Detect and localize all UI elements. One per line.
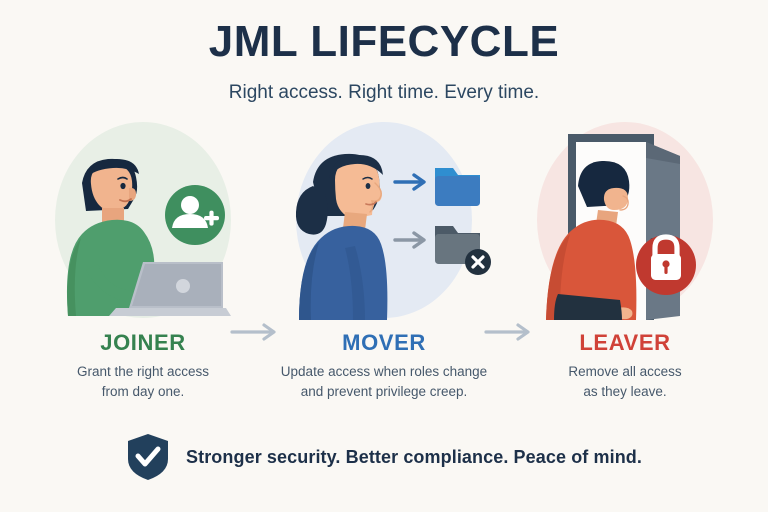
shield-check-icon (126, 433, 170, 481)
lifecycle-stage-row (0, 120, 768, 330)
page-title: JML LIFECYCLE (0, 20, 768, 64)
infographic-canvas: JML LIFECYCLE Right access. Right time. … (0, 0, 768, 512)
caption-desc-leaver-line1: Remove all access (568, 364, 681, 379)
stage-panel-leaver (510, 120, 740, 320)
page-subtitle: Right access. Right time. Every time. (0, 82, 768, 104)
caption-title-leaver: LEAVER (500, 332, 750, 354)
badge-add-user (28, 120, 258, 320)
caption-desc-joiner: Grant the right access from day one. (18, 362, 268, 401)
caption-leaver: LEAVER Remove all access as they leave. (500, 332, 750, 401)
badge-folder-permissions (269, 120, 499, 320)
badge-lock (510, 120, 740, 320)
caption-joiner: JOINER Grant the right access from day o… (18, 332, 268, 401)
caption-desc-mover-line1: Update access when roles change (281, 364, 487, 379)
caption-title-mover: MOVER (259, 332, 509, 354)
caption-desc-mover: Update access when roles change and prev… (259, 362, 509, 401)
stage-panel-joiner (28, 120, 258, 320)
caption-mover: MOVER Update access when roles change an… (259, 332, 509, 401)
footer-text: Stronger security. Better compliance. Pe… (186, 447, 642, 468)
caption-desc-leaver-line2: as they leave. (583, 384, 666, 399)
stage-panel-mover (269, 120, 499, 320)
caption-title-joiner: JOINER (18, 332, 268, 354)
caption-desc-joiner-line2: from day one. (102, 384, 185, 399)
caption-desc-mover-line2: and prevent privilege creep. (301, 384, 468, 399)
footer-banner: Stronger security. Better compliance. Pe… (0, 428, 768, 486)
caption-desc-joiner-line1: Grant the right access (77, 364, 209, 379)
caption-desc-leaver: Remove all access as they leave. (500, 362, 750, 401)
